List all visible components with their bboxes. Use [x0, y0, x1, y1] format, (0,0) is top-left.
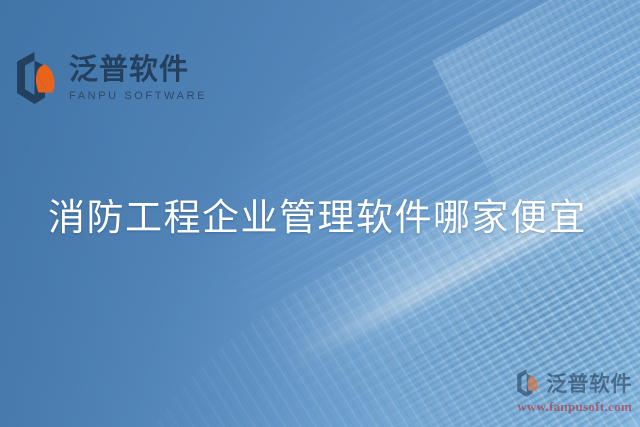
watermark-logo-row: 泛普软件: [515, 368, 632, 398]
brand-name-cn: 泛普软件: [69, 55, 207, 84]
headline-title: 消防工程企业管理软件哪家便宜: [48, 196, 587, 240]
fanpu-sail-logo-icon: [515, 369, 541, 397]
tower-top-right: [432, 0, 640, 327]
brand-text-block: 泛普软件 FANPU SOFTWARE: [69, 55, 207, 102]
brand-logo: 泛普软件 FANPU SOFTWARE: [14, 52, 207, 104]
site-watermark: 泛普软件 www.fanpusoft.com: [515, 368, 632, 415]
fanpu-sail-logo-icon: [14, 52, 60, 104]
watermark-name-cn: 泛普软件: [546, 368, 632, 398]
brand-name-en: FANPU SOFTWARE: [69, 91, 207, 102]
promo-banner: 泛普软件 FANPU SOFTWARE 消防工程企业管理软件哪家便宜 泛普软件 …: [0, 0, 640, 427]
watermark-url: www.fanpusoft.com: [515, 399, 632, 415]
